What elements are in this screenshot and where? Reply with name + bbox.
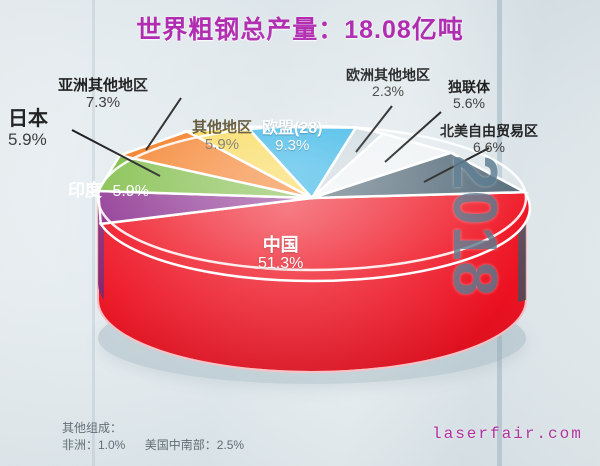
slice-label-india-percent: 5.9% (112, 183, 148, 200)
slice-label-europe-other: 欧洲其他地区 2.3% (346, 68, 430, 99)
slice-label-other-regions: 其他地区 5.9% (192, 120, 252, 154)
footnotes: 其他组成： 非洲：1.0% 美国中南部：2.5% (62, 420, 260, 455)
chart-canvas: 世界粗钢总产量：18.08亿吨 (0, 0, 600, 466)
slice-label-india: 印度 5.9% (68, 181, 149, 201)
pie-chart-svg: 中国 51.3% 印度 5.9% 日本 5.9% 亚洲其他地区 7.3% 其他地… (0, 0, 600, 466)
footnotes-row: 非洲：1.0% 美国中南部：2.5% (62, 437, 260, 454)
slice-label-eu28-percent: 9.3% (262, 138, 322, 155)
slice-label-japan-percent: 5.9% (8, 130, 48, 149)
slice-label-asia-other-percent: 7.3% (58, 95, 148, 112)
slice-label-eu28-name: 欧盟(28) (262, 120, 322, 138)
watermark: laserfair.com (432, 425, 583, 443)
slice-label-eu28: 欧盟(28) 9.3% (262, 120, 322, 155)
slice-label-europe-other-percent: 2.3% (346, 84, 430, 100)
slice-label-china: 中国 51.3% (258, 235, 303, 273)
footnote-south-central-america: 美国中南部：2.5% (145, 438, 244, 452)
slice-label-asia-other-name: 亚洲其他地区 (58, 78, 148, 95)
footnote-africa: 非洲：1.0% (62, 438, 125, 452)
slice-label-asia-other: 亚洲其他地区 7.3% (58, 78, 148, 112)
slice-label-china-name: 中国 (258, 235, 303, 255)
slice-label-other-regions-percent: 5.9% (192, 137, 252, 154)
slice-label-nafta-percent: 6.6% (440, 140, 538, 156)
slice-label-cis-percent: 5.6% (448, 96, 490, 112)
footnotes-heading: 其他组成： (62, 420, 260, 437)
slice-label-cis-name: 独联体 (448, 80, 490, 96)
slice-label-cis: 独联体 5.6% (448, 80, 490, 111)
slice-label-china-percent: 51.3% (258, 255, 303, 273)
slice-label-japan-name: 日本 (8, 108, 48, 130)
slice-label-nafta-name: 北美自由贸易区 (440, 124, 538, 140)
slice-label-india-name: 印度 (68, 181, 102, 200)
slice-label-europe-other-name: 欧洲其他地区 (346, 68, 430, 84)
slice-label-nafta: 北美自由贸易区 6.6% (440, 124, 538, 155)
year-label: 2018 (439, 155, 510, 297)
slice-label-japan: 日本 5.9% (8, 108, 48, 149)
slice-label-other-regions-name: 其他地区 (192, 120, 252, 137)
